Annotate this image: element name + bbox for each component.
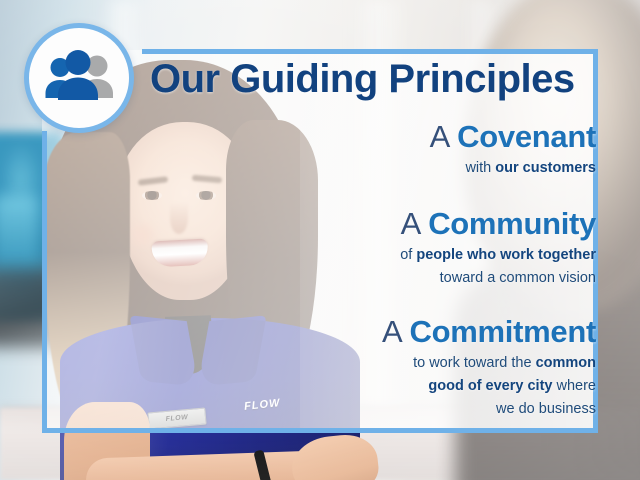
- principle-community-keyword: Community: [428, 206, 596, 241]
- principle-community-heading: A Community: [400, 207, 596, 242]
- principle-covenant-line-1: with our customers: [430, 158, 596, 178]
- text-run-bold: people who work together: [416, 247, 596, 263]
- text-run: of: [400, 247, 416, 263]
- text-run-bold: our customers: [495, 160, 596, 176]
- text-run: with: [465, 160, 495, 176]
- principle-covenant: A Covenant with our customers: [430, 120, 596, 178]
- principle-community-line-1: of people who work together: [400, 245, 596, 265]
- text-run-bold: common: [536, 355, 596, 371]
- text-run: where: [552, 378, 596, 394]
- principle-commitment-line-1: to work toward the common: [382, 353, 596, 373]
- principle-community-line-2: toward a common vision: [400, 268, 596, 288]
- text-run: toward a common vision: [440, 270, 596, 286]
- principle-commitment-line-3: we do business: [382, 399, 596, 419]
- principle-community: A Community of people who work together …: [400, 207, 596, 288]
- principle-community-article: A: [401, 206, 429, 241]
- principle-covenant-keyword: Covenant: [457, 119, 596, 154]
- principle-commitment-heading: A Commitment: [382, 315, 596, 350]
- principle-covenant-heading: A Covenant: [430, 120, 596, 155]
- principle-commitment-keyword: Commitment: [410, 314, 596, 349]
- principle-commitment: A Commitment to work toward the common g…: [382, 315, 596, 419]
- principle-commitment-line-2: good of every city where: [382, 376, 596, 396]
- text-content: Our Guiding Principles A Covenant with o…: [42, 50, 598, 433]
- text-run: we do business: [496, 401, 596, 417]
- text-run: to work toward the: [413, 355, 536, 371]
- page-title: Our Guiding Principles: [150, 58, 598, 100]
- text-run-bold: good of every city: [428, 378, 552, 394]
- principle-commitment-article: A: [382, 314, 410, 349]
- principle-covenant-article: A: [430, 119, 458, 154]
- promo-graphic: FLOW FLOW Our Guiding P: [0, 0, 640, 480]
